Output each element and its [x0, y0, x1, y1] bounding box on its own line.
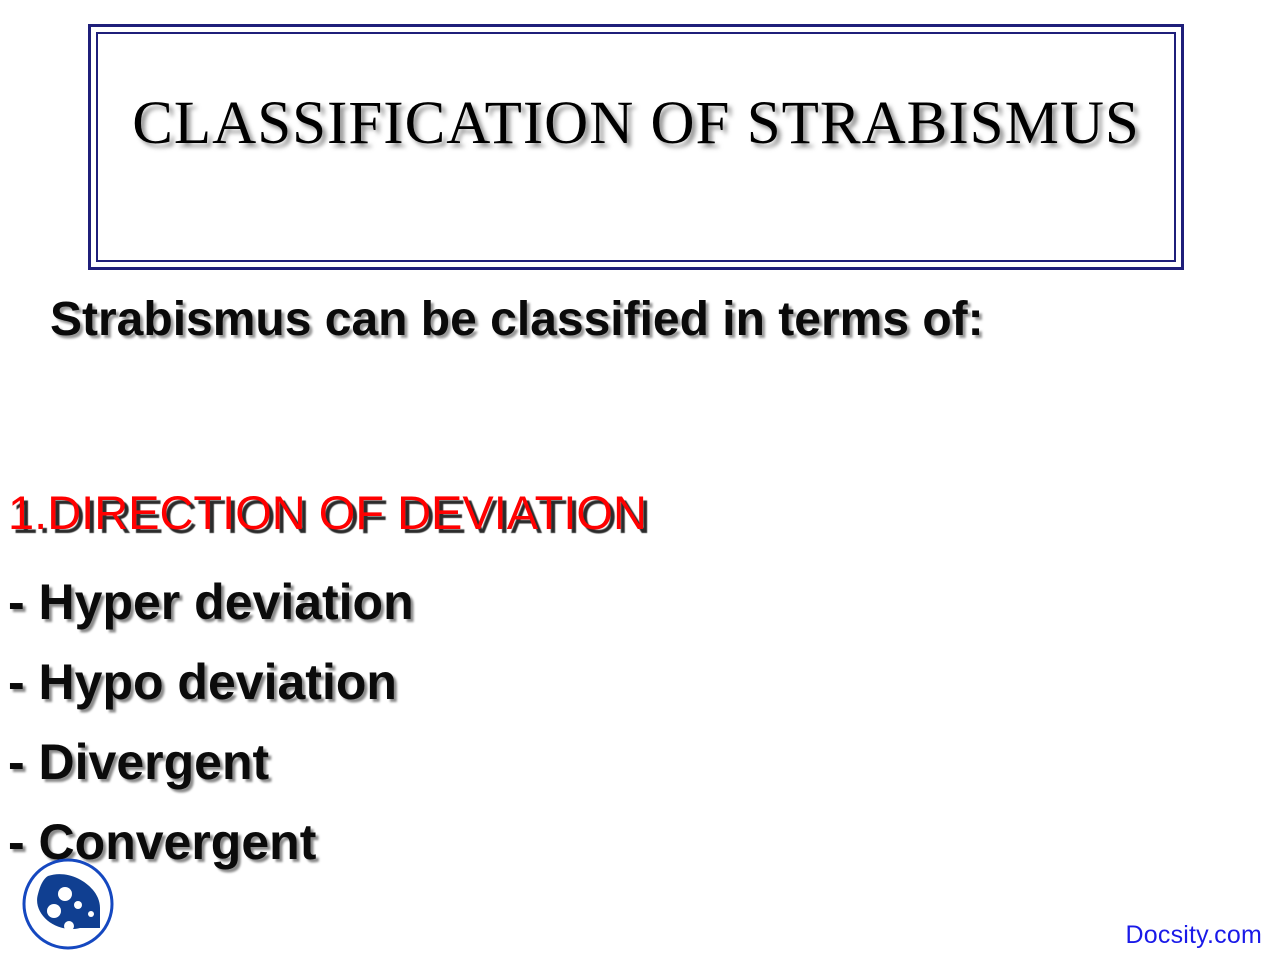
title-frame-inner-border: CLASSIFICATION OF STRABISMUS — [96, 32, 1176, 262]
title-frame: CLASSIFICATION OF STRABISMUS — [88, 24, 1184, 270]
list-item: - Hyper deviation — [8, 562, 414, 642]
deviation-list: - Hyper deviation - Hypo deviation - Div… — [8, 562, 414, 882]
list-item: - Divergent — [8, 722, 414, 802]
docsity-logo-icon — [18, 856, 118, 952]
subtitle-text: Strabismus can be classified in terms of… — [50, 292, 984, 347]
list-item: - Hypo deviation — [8, 642, 414, 722]
page-title: CLASSIFICATION OF STRABISMUS — [98, 92, 1174, 156]
docsity-watermark: Docsity.com — [1126, 921, 1262, 950]
section-heading: 1.DIRECTION OF DEVIATION — [8, 485, 647, 540]
